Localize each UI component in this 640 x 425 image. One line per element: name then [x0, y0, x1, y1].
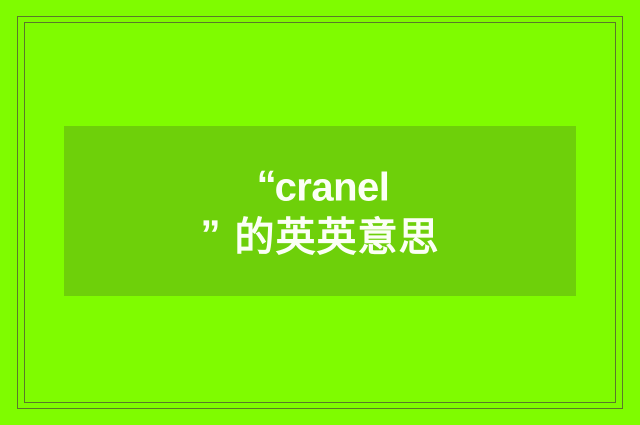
title-panel: “cranel ”的英英意思	[64, 126, 576, 296]
title-line-2: ”的英英意思	[64, 215, 576, 257]
title-subtitle-cjk: 的英英意思	[235, 214, 440, 260]
title-line-1: “cranel	[64, 165, 576, 207]
page-title: “cranel ”的英英意思	[64, 165, 576, 258]
open-quote-glyph: “	[257, 163, 275, 207]
close-quote-glyph: ”	[201, 213, 235, 257]
title-keyword: cranel	[275, 165, 390, 209]
title-card: “cranel ”的英英意思	[0, 0, 640, 425]
